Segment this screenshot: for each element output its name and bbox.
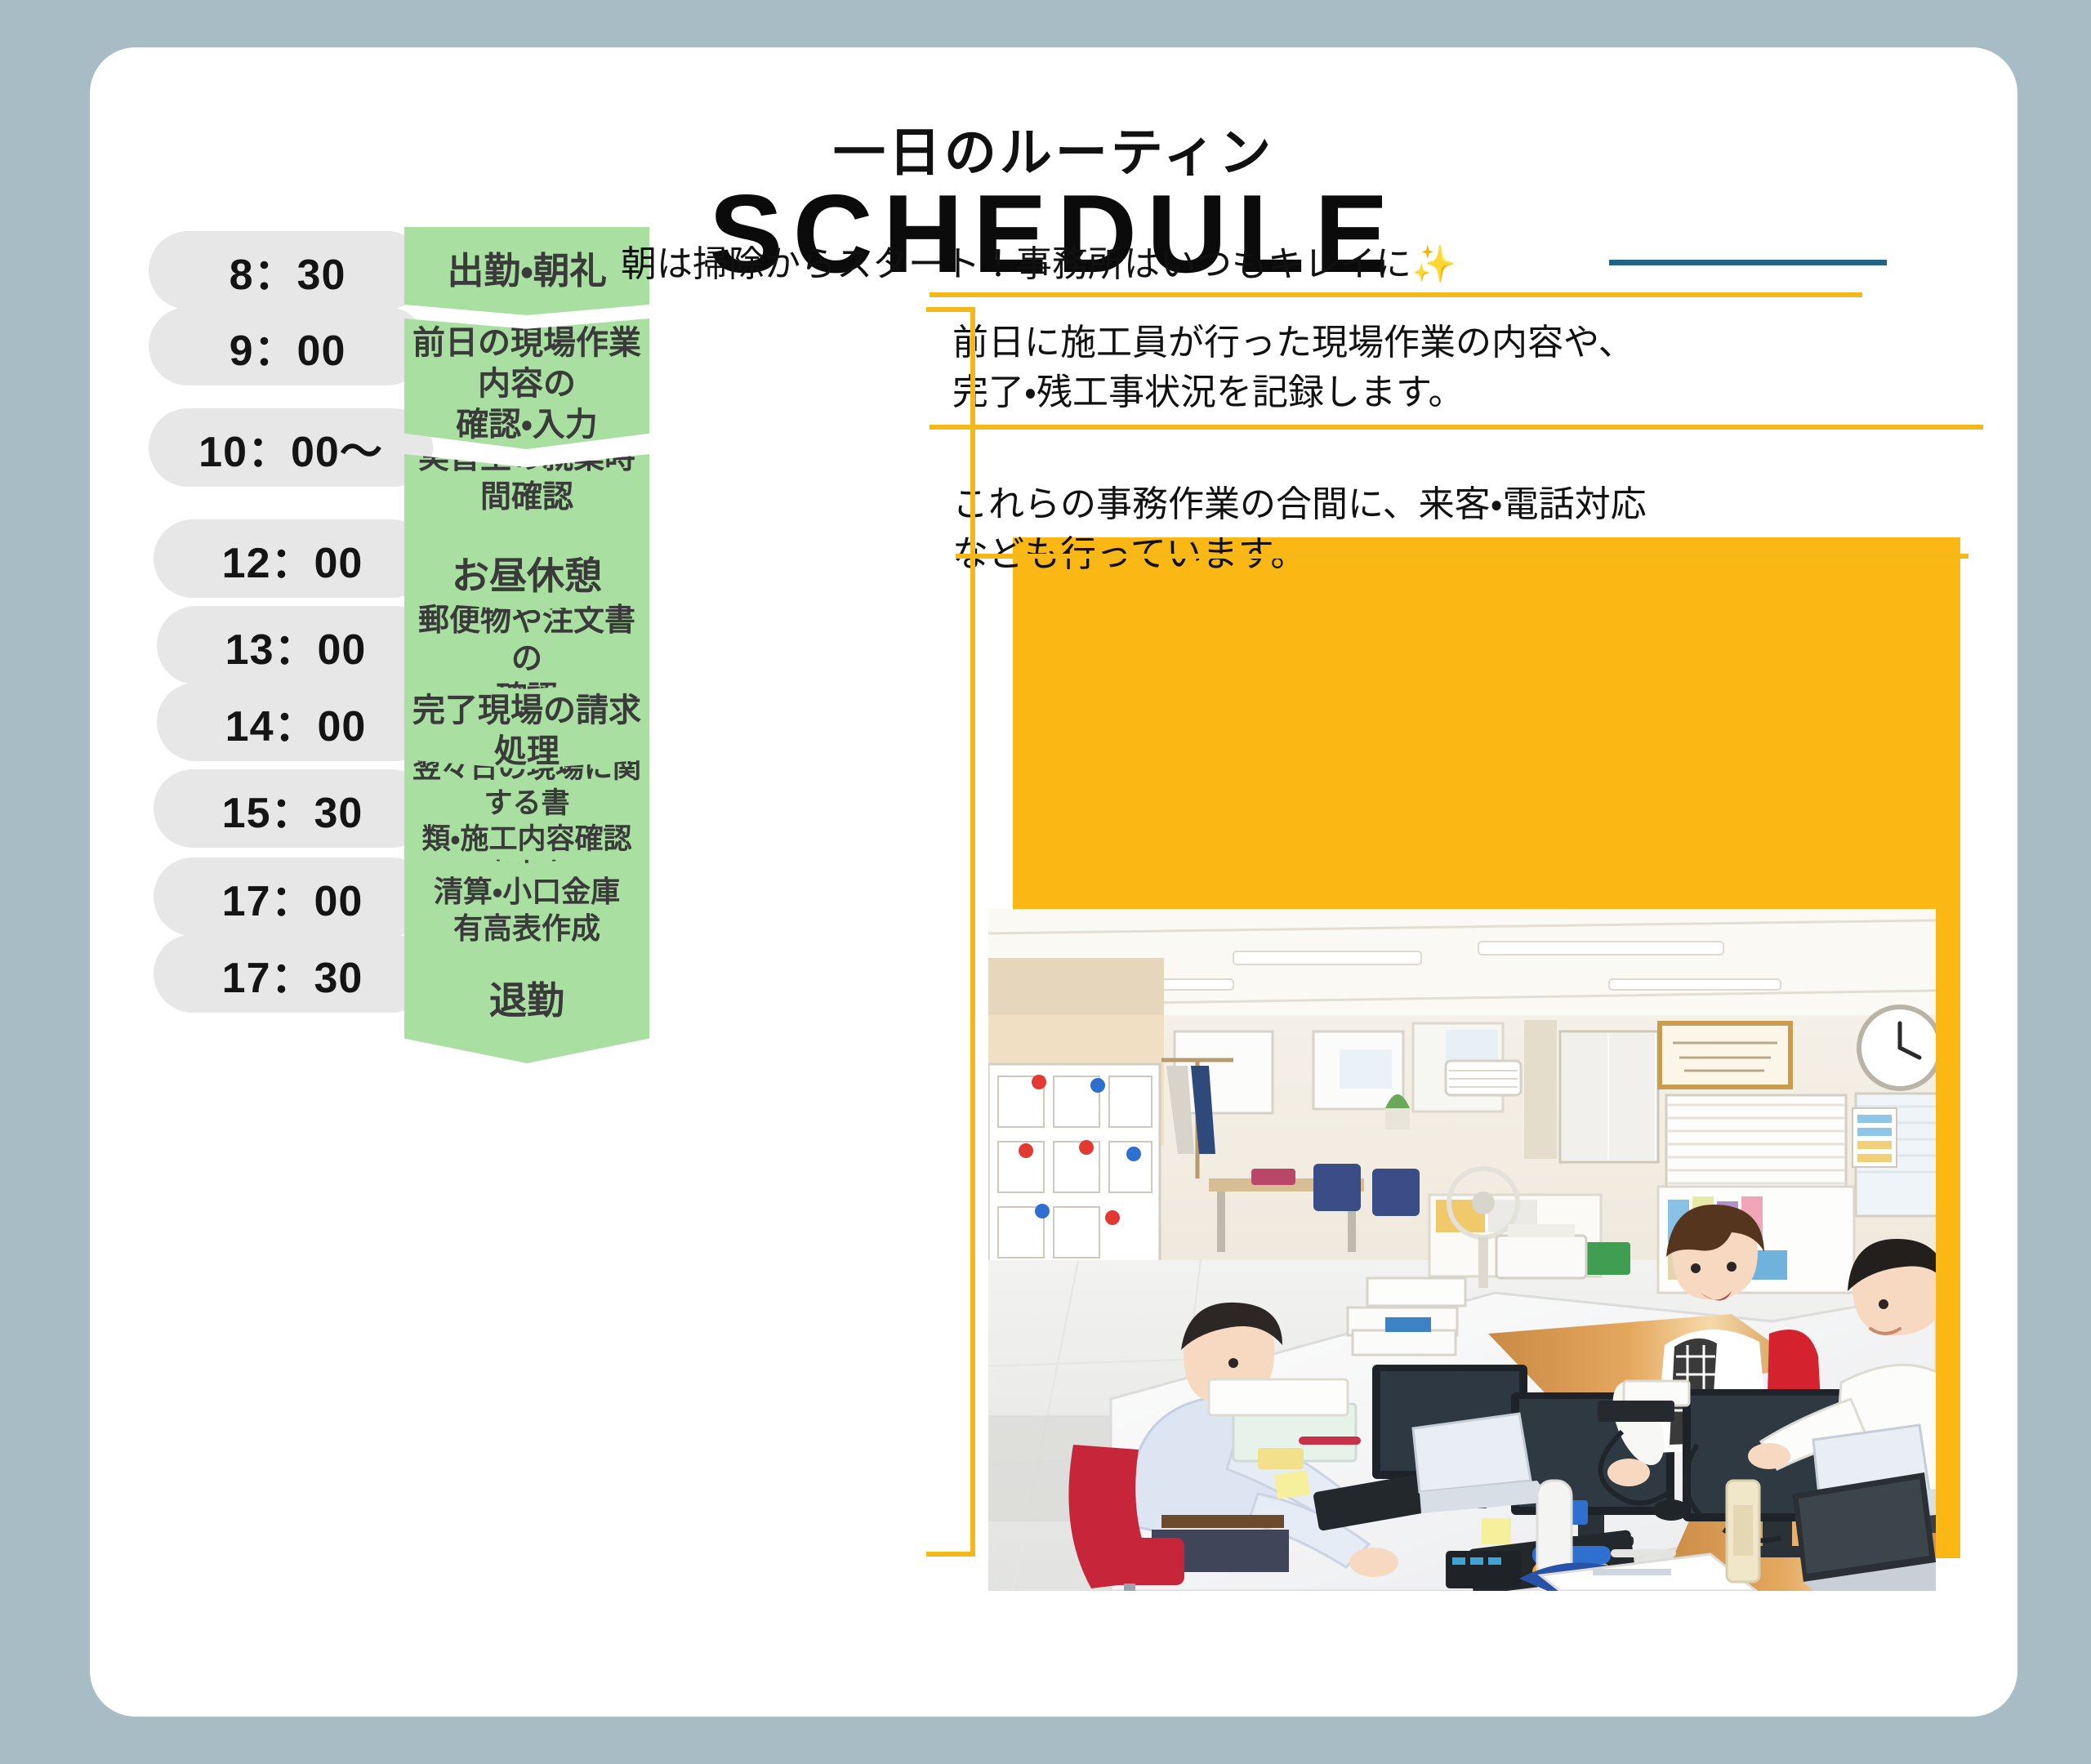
bracket-top-stub <box>926 307 975 312</box>
orange-divider-3 <box>956 554 1968 559</box>
description-column: 朝は掃除からスタート！事務所はいつもキレイに✨ 前日に施工員が行った現場作業の内… <box>90 47 2017 1717</box>
schedule-card: 一日のルーティン SCHEDULE <box>90 47 2017 1717</box>
orange-divider-2 <box>930 425 1983 430</box>
description-text: これらの事務作業の合間に、来客・電話対応 なども行っています。 <box>952 480 1884 579</box>
bracket-bottom-stub <box>926 1552 975 1557</box>
description-text: 前日に施工員が行った現場作業の内容や、 完了・残工事状況を記録します。 <box>952 318 1867 417</box>
orange-divider-1 <box>930 292 1862 297</box>
bracket-spine <box>970 307 975 1557</box>
description-text: 朝は掃除からスタート！事務所はいつもキレイに✨ <box>621 240 1895 290</box>
